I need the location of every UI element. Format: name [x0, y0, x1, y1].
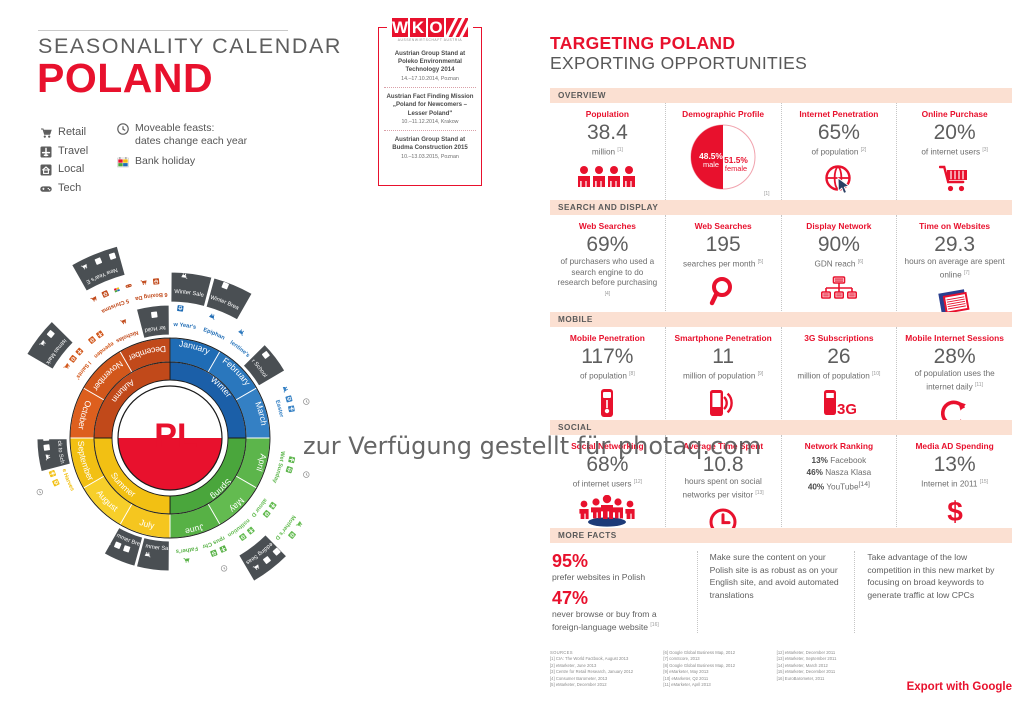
- stat-subtext: searches per month [5]: [671, 257, 776, 270]
- wko-logo-letter-k: K: [410, 18, 426, 37]
- legend-label-local: Local: [58, 163, 84, 175]
- stat-ref: [2]: [861, 147, 867, 153]
- stat-subtext: million of population [10]: [787, 369, 892, 382]
- clock-icon: [221, 566, 227, 572]
- 3g-phone-icon: 3G: [787, 386, 892, 420]
- more-facts-pct: 95%: [552, 551, 687, 572]
- airplane-icon: [75, 347, 83, 355]
- clock-icon: [303, 472, 309, 478]
- stat-label: Web Searches: [671, 221, 776, 231]
- wheel-center-label: PL: [154, 417, 197, 455]
- shopping-cart-icon: [209, 313, 216, 319]
- legend-note-moveable-line1: Moveable feasts:: [135, 122, 214, 134]
- title-divider: [38, 30, 288, 31]
- wheel-event-segment: [136, 305, 169, 338]
- shopping-cart-icon: [183, 558, 189, 563]
- stat-value: 117%: [555, 344, 660, 369]
- network-tree-icon: [787, 274, 892, 308]
- stat-ref: [1]: [764, 191, 770, 197]
- stat-value: 20%: [902, 120, 1007, 145]
- house-icon: [88, 336, 96, 344]
- network-ranking-name: Facebook: [830, 456, 866, 465]
- stat-online-purchase: Online Purchase 20% of internet users [3…: [897, 103, 1012, 206]
- house-icon: [239, 533, 247, 541]
- smartphone-signal-icon: [671, 386, 776, 420]
- stat-web-searches-purchasers: Web Searches 69% of purchasers who used …: [550, 215, 666, 323]
- stat-ref: [14]: [859, 481, 870, 488]
- stat-web-searches-per-month: Web Searches 195 searches per month [5]: [666, 215, 782, 323]
- more-facts-tip-text: Take advantage of the low competition in…: [867, 551, 1002, 601]
- seasonality-wheel: PLWinterSpringSummerAutumnJanuaryFebruar…: [24, 190, 364, 650]
- stat-ref: [3]: [982, 147, 988, 153]
- network-ranking-row: 46% Nasza Klasa: [787, 467, 892, 479]
- stat-ref: [15]: [980, 479, 988, 485]
- legend-notes: Moveable feasts: dates change each year: [117, 122, 267, 176]
- sources-column: [6] Google Global Business Map, 2012 [7]…: [663, 650, 776, 688]
- page-title-country: POLAND: [37, 55, 213, 102]
- more-facts-tip-text: Make sure the content on your Polish sit…: [710, 551, 845, 601]
- stat-subtext-label: million of population: [683, 372, 755, 381]
- stat-value: 38.4: [555, 120, 660, 145]
- stat-subtext: of population [2]: [787, 145, 892, 158]
- right-title-primary: TARGETING POLAND: [550, 33, 735, 54]
- people-group-icon: [555, 162, 660, 196]
- more-facts-text: prefer websites in Polish: [552, 572, 687, 584]
- network-ranking-name: YouTube: [826, 483, 858, 492]
- network-ranking-pct: 13%: [812, 456, 828, 465]
- stat-network-ranking: Network Ranking 13% Facebook 46% Nasza K…: [782, 435, 898, 543]
- gamepad-icon: [125, 284, 132, 288]
- wheel-event-segment: [239, 535, 287, 581]
- stat-label: Time on Websites: [902, 221, 1007, 231]
- house-icon: [285, 395, 292, 402]
- stat-ref: [5]: [758, 259, 764, 265]
- section-body-overview: Population 38.4 million [1]: [550, 103, 1012, 206]
- more-facts-column-stats: 95% prefer websites in Polish 47% never …: [550, 551, 698, 633]
- svg-text:3G: 3G: [837, 401, 856, 418]
- more-facts-text-label: never browse or buy from a foreign-langu…: [552, 609, 657, 632]
- calendar-icon: [113, 286, 120, 293]
- right-title-secondary: EXPORTING OPPORTUNITIES: [550, 53, 807, 74]
- network-ranking-row: 40% YouTube[14]: [787, 479, 892, 494]
- stat-subtext-label: of internet users: [921, 148, 980, 157]
- more-facts-pct: 47%: [552, 588, 687, 609]
- legend-note-moveable: Moveable feasts: dates change each year: [117, 122, 267, 147]
- stat-subtext: of purchasers who used a search engine t…: [555, 257, 660, 302]
- stat-value: 68%: [555, 452, 660, 477]
- clock-icon: [117, 122, 129, 134]
- export-with-google-label: Export with Google: [907, 681, 1012, 693]
- stat-mobile-penetration: Mobile Penetration 117% of population [8…: [550, 327, 666, 435]
- stat-ref: [8]: [629, 371, 635, 377]
- house-icon: [43, 435, 49, 441]
- shopping-cart-icon: [40, 126, 52, 138]
- stat-mobile-internet-sessions: Mobile Internet Sessions 28% of populati…: [897, 327, 1012, 435]
- house-icon: [101, 290, 109, 298]
- wko-logo-slash-mark: [446, 18, 468, 37]
- shopping-cart-icon: [120, 319, 127, 325]
- stat-ref: [10]: [872, 371, 880, 377]
- house-icon: [210, 549, 218, 557]
- wko-logo-letter-o: O: [428, 18, 444, 37]
- airplane-icon: [247, 526, 255, 534]
- stat-population: Population 38.4 million [1]: [550, 103, 666, 206]
- infographic-page: SEASONALITY CALENDAR POLAND Retail: [0, 0, 1024, 724]
- stat-value: 10.8: [671, 452, 776, 477]
- stat-label: Network Ranking: [787, 441, 892, 451]
- stat-subtext: hours on average are spent online [7]: [902, 257, 1007, 281]
- stat-subtext: of internet users [12]: [555, 477, 660, 490]
- stat-ref: [12]: [634, 479, 642, 485]
- stat-internet-penetration: Internet Penetration 65% of population […: [782, 103, 898, 206]
- stat-subtext: hours spent on social networks per visit…: [671, 477, 776, 501]
- house-icon: [153, 278, 159, 284]
- source-item: [11] eMarketer, April 2013: [663, 682, 776, 688]
- shopping-cart-icon: [283, 386, 289, 393]
- stat-subtext: of population [8]: [555, 369, 660, 382]
- stat-subtext: GDN reach [6]: [787, 257, 892, 270]
- pie-female-word: female: [725, 164, 747, 173]
- stat-media-ad-spending: Media AD Spending 13% Internet in 2011 […: [897, 435, 1012, 543]
- svg-text:$: $: [947, 496, 963, 526]
- house-icon: [286, 466, 293, 473]
- stat-subtext-label: Internet in 2011: [921, 480, 977, 489]
- stat-ref: [4]: [605, 291, 611, 297]
- stat-average-time-spent: Average Time Spent 10.8 hours spent on s…: [666, 435, 782, 543]
- section-heading-social: SOCIAL: [550, 420, 1012, 435]
- section-search-and-display: SEARCH AND DISPLAY Web Searches 69% of p…: [550, 200, 1012, 323]
- stat-time-on-websites: Time on Websites 29.3 hours on average a…: [897, 215, 1012, 323]
- stat-value: 65%: [787, 120, 892, 145]
- network-ranking-name: Nasza Klasa: [825, 468, 871, 477]
- wko-logo: W K O AUSSENWIRTSCHAFT AUSTRIA: [387, 18, 473, 42]
- stat-smartphone-penetration: Smartphone Penetration 11 million of pop…: [666, 327, 782, 435]
- stat-ref: [11]: [975, 382, 983, 388]
- stat-subtext: of internet users [3]: [902, 145, 1007, 158]
- network-ranking-row: 13% Facebook: [787, 455, 892, 467]
- stat-ref: [6]: [858, 259, 864, 265]
- stat-subtext: of population uses the internet daily [1…: [902, 369, 1007, 393]
- house-icon: [262, 510, 270, 518]
- wheel-event-label: Back to School: [24, 190, 65, 464]
- shopping-cart-icon: [238, 329, 245, 336]
- wko-event-box: W K O AUSSENWIRTSCHAFT AUSTRIA Austrian …: [378, 27, 482, 186]
- wko-event-dates: 10.–11.12.2014, Krakow: [384, 119, 476, 125]
- sources-block: SOURCES [1] CIA: The World Factbook, Aug…: [550, 650, 890, 688]
- stat-label: Online Purchase: [902, 109, 1007, 119]
- section-overview: OVERVIEW Population 38.4 million [1]: [550, 88, 1012, 206]
- house-icon: [177, 305, 184, 312]
- house-icon: [69, 355, 77, 363]
- left-panel: SEASONALITY CALENDAR POLAND Retail: [0, 0, 528, 724]
- source-item: [5] eMarketer, December 2012: [550, 682, 663, 688]
- pie-male-word: male: [703, 160, 719, 169]
- stat-value: 26: [787, 344, 892, 369]
- network-ranking-list: 13% Facebook 46% Nasza Klasa 40% YouTube…: [787, 455, 892, 494]
- legend-note-bankholiday: Bank holiday: [117, 155, 267, 168]
- shopping-cart-icon: [90, 296, 97, 303]
- wko-event-item: Austrian Group Stand at Poleko Environme…: [384, 50, 476, 88]
- shopping-cart-icon: [141, 280, 147, 285]
- section-body-mobile: Mobile Penetration 117% of population [8…: [550, 327, 1012, 435]
- airplane-icon: [96, 330, 104, 338]
- stat-label: Web Searches: [555, 221, 660, 231]
- stat-subtext-label: of purchasers who used a search engine t…: [558, 257, 658, 287]
- airplane-icon: [40, 145, 52, 157]
- right-panel: TARGETING POLAND EXPORTING OPPORTUNITIES…: [538, 0, 1024, 724]
- wko-logo-letter-w: W: [392, 18, 408, 37]
- legend-label-retail: Retail: [58, 126, 86, 138]
- globe-cursor-icon: [787, 162, 892, 196]
- stat-label: 3G Subscriptions: [787, 333, 892, 343]
- stat-demographic-profile: Demographic Profile 48.5% male 51.5% fem…: [666, 103, 782, 206]
- section-more-facts: MORE FACTS 95% prefer websites in Polish…: [550, 528, 1012, 633]
- more-facts-text: never browse or buy from a foreign-langu…: [552, 609, 687, 634]
- clock-icon: [37, 489, 43, 495]
- airplane-icon: [49, 470, 57, 478]
- wko-event-headline: Austrian Group Stand at Poleko Environme…: [384, 50, 476, 75]
- stat-ref: [1]: [617, 147, 623, 153]
- stat-subtext-label: of population: [580, 372, 627, 381]
- stat-label: Media AD Spending: [902, 441, 1007, 451]
- stat-label: Smartphone Penetration: [671, 333, 776, 343]
- wko-event-dates: 14.–17.10.2014, Poznan: [384, 76, 476, 82]
- wko-event-headline: Austrian Group Stand at Budma Constructi…: [384, 136, 476, 152]
- stat-label: Mobile Penetration: [555, 333, 660, 343]
- stat-subtext-label: of population: [812, 148, 859, 157]
- section-body-search-and-display: Web Searches 69% of purchasers who used …: [550, 215, 1012, 323]
- section-social: SOCIAL Social Networking 68% of internet…: [550, 420, 1012, 543]
- airplane-icon: [269, 501, 277, 509]
- wko-event-list: Austrian Group Stand at Poleko Environme…: [379, 28, 481, 174]
- pie-chart-icon: 48.5% male 51.5% female: [671, 121, 776, 193]
- stat-subtext-label: GDN reach: [814, 260, 855, 269]
- legend-note-bankholiday-text: Bank holiday: [135, 155, 195, 168]
- wheel-event-label: 31 New Year's Eve: [24, 190, 120, 285]
- stat-ref: [16]: [650, 622, 658, 628]
- stat-subtext-label: searches per month: [683, 260, 755, 269]
- stat-label: Population: [555, 109, 660, 119]
- legend-label-travel: Travel: [58, 145, 88, 157]
- airplane-icon: [43, 444, 50, 451]
- section-body-more-facts: 95% prefer websites in Polish 47% never …: [550, 543, 1012, 633]
- stat-social-networking: Social Networking 68% of internet users …: [550, 435, 666, 543]
- section-mobile: MOBILE Mobile Penetration 117% of popula…: [550, 312, 1012, 435]
- calendar-icon: [117, 155, 129, 167]
- stat-ref: [7]: [964, 270, 970, 276]
- wheel-event-label: Easter: [274, 399, 284, 418]
- stat-label: Average Time Spent: [671, 441, 776, 451]
- stat-subtext-label: million: [592, 148, 615, 157]
- more-facts-column-tip-1: Make sure the content on your Polish sit…: [698, 551, 856, 633]
- section-body-social: Social Networking 68% of internet users …: [550, 435, 1012, 543]
- stat-value: 29.3: [902, 232, 1007, 257]
- stat-ref: [13]: [755, 490, 763, 496]
- stat-subtext: million of population [9]: [671, 369, 776, 382]
- stat-label: Demographic Profile: [671, 109, 776, 119]
- stat-subtext: million [1]: [555, 145, 660, 158]
- section-heading-more-facts: MORE FACTS: [550, 528, 1012, 543]
- stat-value: 11: [671, 344, 776, 369]
- sources-column: [12] eMarketer, December 2011 [13] eMark…: [777, 650, 890, 688]
- stat-ref: [9]: [758, 371, 764, 377]
- shopping-cart-icon: [64, 363, 71, 370]
- seasonality-wheel-svg: PLWinterSpringSummerAutumnJanuaryFebruar…: [24, 190, 364, 650]
- wheel-event-label: 6 Epiphany: [24, 190, 226, 342]
- sources-column: SOURCES [1] CIA: The World Factbook, Aug…: [550, 650, 663, 688]
- stat-3g-subscriptions: 3G Subscriptions 26 million of populatio…: [782, 327, 898, 435]
- wko-event-item: Austrian Fact Finding Mission „Poland fo…: [384, 93, 476, 131]
- wheel-event-label: Wet Sunday: [271, 451, 286, 485]
- section-heading-overview: OVERVIEW: [550, 88, 1012, 103]
- airplane-icon: [288, 405, 295, 412]
- stat-label: Mobile Internet Sessions: [902, 333, 1007, 343]
- dollar-icon: $: [902, 494, 1007, 528]
- airplane-icon: [288, 456, 295, 463]
- network-ranking-pct: 46%: [807, 468, 823, 477]
- stat-value: 13%: [902, 452, 1007, 477]
- house-icon: [52, 479, 60, 487]
- stat-label: Social Networking: [555, 441, 660, 451]
- wko-event-headline: Austrian Fact Finding Mission „Poland fo…: [384, 93, 476, 118]
- stat-subtext: Internet in 2011 [15]: [902, 477, 1007, 490]
- section-heading-mobile: MOBILE: [550, 312, 1012, 327]
- mobile-phone-icon: [555, 386, 660, 420]
- stat-label: Internet Penetration: [787, 109, 892, 119]
- more-facts-column-tip-2: Take advantage of the low competition in…: [855, 551, 1012, 633]
- wheel-event-segment: [37, 439, 70, 472]
- stat-display-network: Display Network 90% GDN reach [6]: [782, 215, 898, 323]
- wko-event-item: Austrian Group Stand at Budma Constructi…: [384, 136, 476, 165]
- magnifier-icon: [671, 274, 776, 308]
- wko-logo-subtitle: AUSSENWIRTSCHAFT AUSTRIA: [392, 38, 468, 42]
- stat-value: 69%: [555, 232, 660, 257]
- shopping-cart-icon: [296, 521, 303, 528]
- stat-subtext-label: hours spent on social networks per visit…: [683, 477, 762, 499]
- source-item: [16] EuroBarometer, 2011: [777, 676, 890, 682]
- section-heading-search-and-display: SEARCH AND DISPLAY: [550, 200, 1012, 215]
- stat-value: 195: [671, 232, 776, 257]
- stat-subtext-label: million of population: [797, 372, 869, 381]
- house-icon: [288, 531, 296, 539]
- stat-subtext-label: hours on average are spent online: [905, 257, 1005, 279]
- clock-icon: [303, 399, 309, 405]
- shopping-cart-icon: [902, 162, 1007, 196]
- network-ranking-pct: 40%: [808, 483, 824, 492]
- airplane-icon: [151, 311, 158, 318]
- legend-note-moveable-text: Moveable feasts: dates change each year: [135, 122, 247, 147]
- social-network-icon: [555, 494, 660, 528]
- legend-note-moveable-line2: dates change each year: [135, 135, 247, 147]
- stat-subtext-label: of internet users: [573, 480, 632, 489]
- wko-event-dates: 10.–13.03.2015, Poznan: [384, 154, 476, 160]
- house-icon: [40, 163, 52, 175]
- stat-value: 90%: [787, 232, 892, 257]
- stat-label: Display Network: [787, 221, 892, 231]
- airplane-icon: [219, 545, 227, 553]
- stat-value: 28%: [902, 344, 1007, 369]
